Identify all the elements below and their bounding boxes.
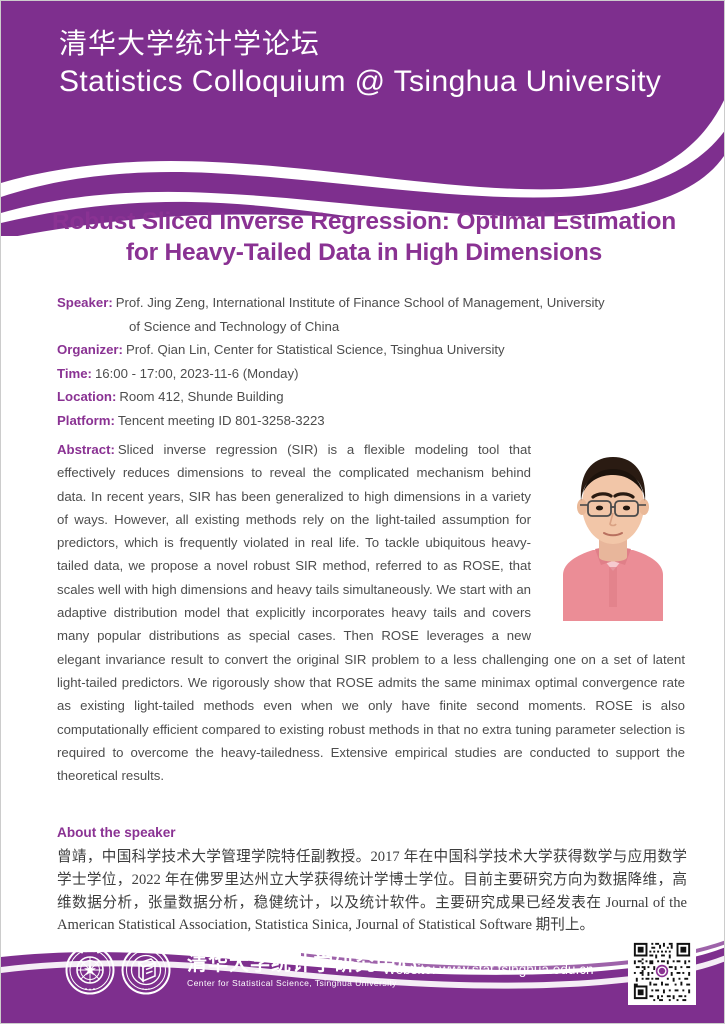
detail-row-location: Location:Room 412, Shunde Building bbox=[57, 386, 685, 408]
poster: 清华大学统计学论坛 Statistics Colloquium @ Tsingh… bbox=[0, 0, 725, 1024]
speaker-photo bbox=[543, 435, 683, 621]
location-value: Room 412, Shunde Building bbox=[119, 389, 283, 404]
detail-row-speaker: Speaker:Prof. Jing Zeng, International I… bbox=[57, 292, 685, 314]
time-value: 16:00 - 17:00, 2023-11-6 (Monday) bbox=[95, 366, 299, 381]
detail-row-organizer: Organizer:Prof. Qian Lin, Center for Sta… bbox=[57, 339, 685, 361]
talk-title: Robust Sliced Inverse Regression: Optima… bbox=[43, 206, 685, 268]
header-titles: 清华大学统计学论坛 Statistics Colloquium @ Tsingh… bbox=[59, 27, 699, 101]
detail-row-platform: Platform:Tencent meeting ID 801-3258-322… bbox=[57, 410, 685, 432]
detail-row-time: Time:16:00 - 17:00, 2023-11-6 (Monday) bbox=[57, 363, 685, 385]
location-label: Location: bbox=[57, 389, 116, 404]
statistical-science-seal-icon bbox=[121, 945, 171, 995]
speaker-label: Speaker: bbox=[57, 295, 113, 310]
abstract-label: Abstract: bbox=[57, 442, 115, 457]
header-title-chinese: 清华大学统计学论坛 bbox=[59, 27, 699, 61]
about-speaker-bio: 曾靖，中国科学技术大学管理学院特任副教授。2017 年在中国科学技术大学获得数学… bbox=[57, 846, 687, 937]
poster-header: 清华大学统计学论坛 Statistics Colloquium @ Tsingh… bbox=[1, 1, 725, 236]
speaker-value-line2: of Science and Technology of China bbox=[57, 316, 685, 337]
platform-value: Tencent meeting ID 801-3258-3223 bbox=[118, 413, 325, 428]
website-url[interactable]: www.stat.tsinghua.edu.cn bbox=[439, 962, 593, 977]
about-speaker-heading: About the speaker bbox=[57, 824, 176, 842]
organizer-value: Prof. Qian Lin, Center for Statistical S… bbox=[126, 342, 505, 357]
tsinghua-seal-icon bbox=[65, 945, 115, 995]
website-line: Website: www.stat.tsinghua.edu.cn bbox=[383, 961, 594, 979]
platform-label: Platform: bbox=[57, 413, 115, 428]
poster-footer: 清华大学统计学研究中心 Center for Statistical Scien… bbox=[1, 927, 725, 1023]
time-label: Time: bbox=[57, 366, 92, 381]
footer-branding: 清华大学统计学研究中心 Center for Statistical Scien… bbox=[65, 945, 418, 995]
header-title-english: Statistics Colloquium @ Tsinghua Univers… bbox=[59, 63, 699, 101]
website-label: Website: bbox=[383, 962, 436, 977]
speaker-value: Prof. Jing Zeng, International Institute… bbox=[116, 295, 605, 310]
organizer-label: Organizer: bbox=[57, 342, 123, 357]
event-details: Speaker:Prof. Jing Zeng, International I… bbox=[57, 292, 685, 434]
qr-code[interactable] bbox=[628, 937, 696, 1005]
